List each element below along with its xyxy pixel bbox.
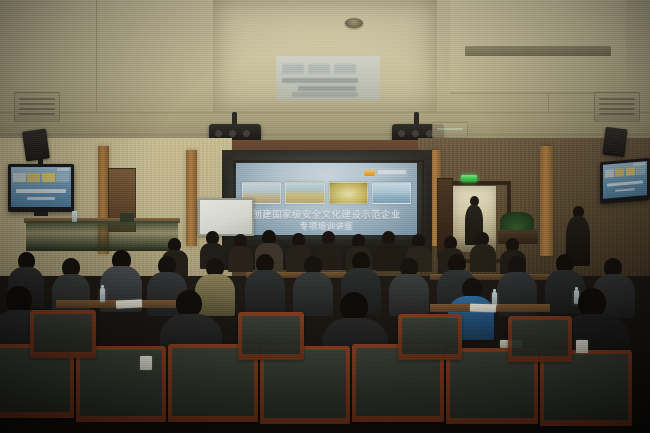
front-head-table xyxy=(26,221,178,251)
notepad xyxy=(116,299,142,308)
wall-pilaster-4 xyxy=(540,146,553,256)
chair[interactable] xyxy=(398,314,462,360)
chair[interactable] xyxy=(238,312,304,360)
ceiling-projected-reflection xyxy=(276,56,380,100)
ceiling-vent-right xyxy=(594,92,640,122)
chair-pocket-paper xyxy=(140,356,152,370)
chair[interactable] xyxy=(508,316,572,362)
table-object xyxy=(120,213,134,222)
front-whiteboard xyxy=(198,198,254,236)
table-bottle xyxy=(72,211,77,222)
ceiling-light-fixture xyxy=(432,122,468,138)
right-wall-monitor xyxy=(600,158,650,204)
left-wall-monitor xyxy=(8,164,74,212)
chair[interactable] xyxy=(30,310,96,358)
wall-pilaster-2 xyxy=(186,150,197,246)
water-bottle xyxy=(100,288,105,302)
wall-speaker-right xyxy=(602,127,627,157)
projection-screen-frame xyxy=(233,160,424,242)
ceiling-dome-camera xyxy=(345,18,363,28)
emergency-exit-sign xyxy=(461,175,477,182)
ceiling xyxy=(0,0,650,152)
conference-room-photo: 创建国家级安全文化建设示范企业 专项培训讲座 xyxy=(0,0,650,433)
ceiling-vent-left xyxy=(14,92,60,122)
chair-pocket-paper xyxy=(576,340,588,353)
wall-speaker-left xyxy=(22,128,50,161)
notepad xyxy=(470,304,496,313)
